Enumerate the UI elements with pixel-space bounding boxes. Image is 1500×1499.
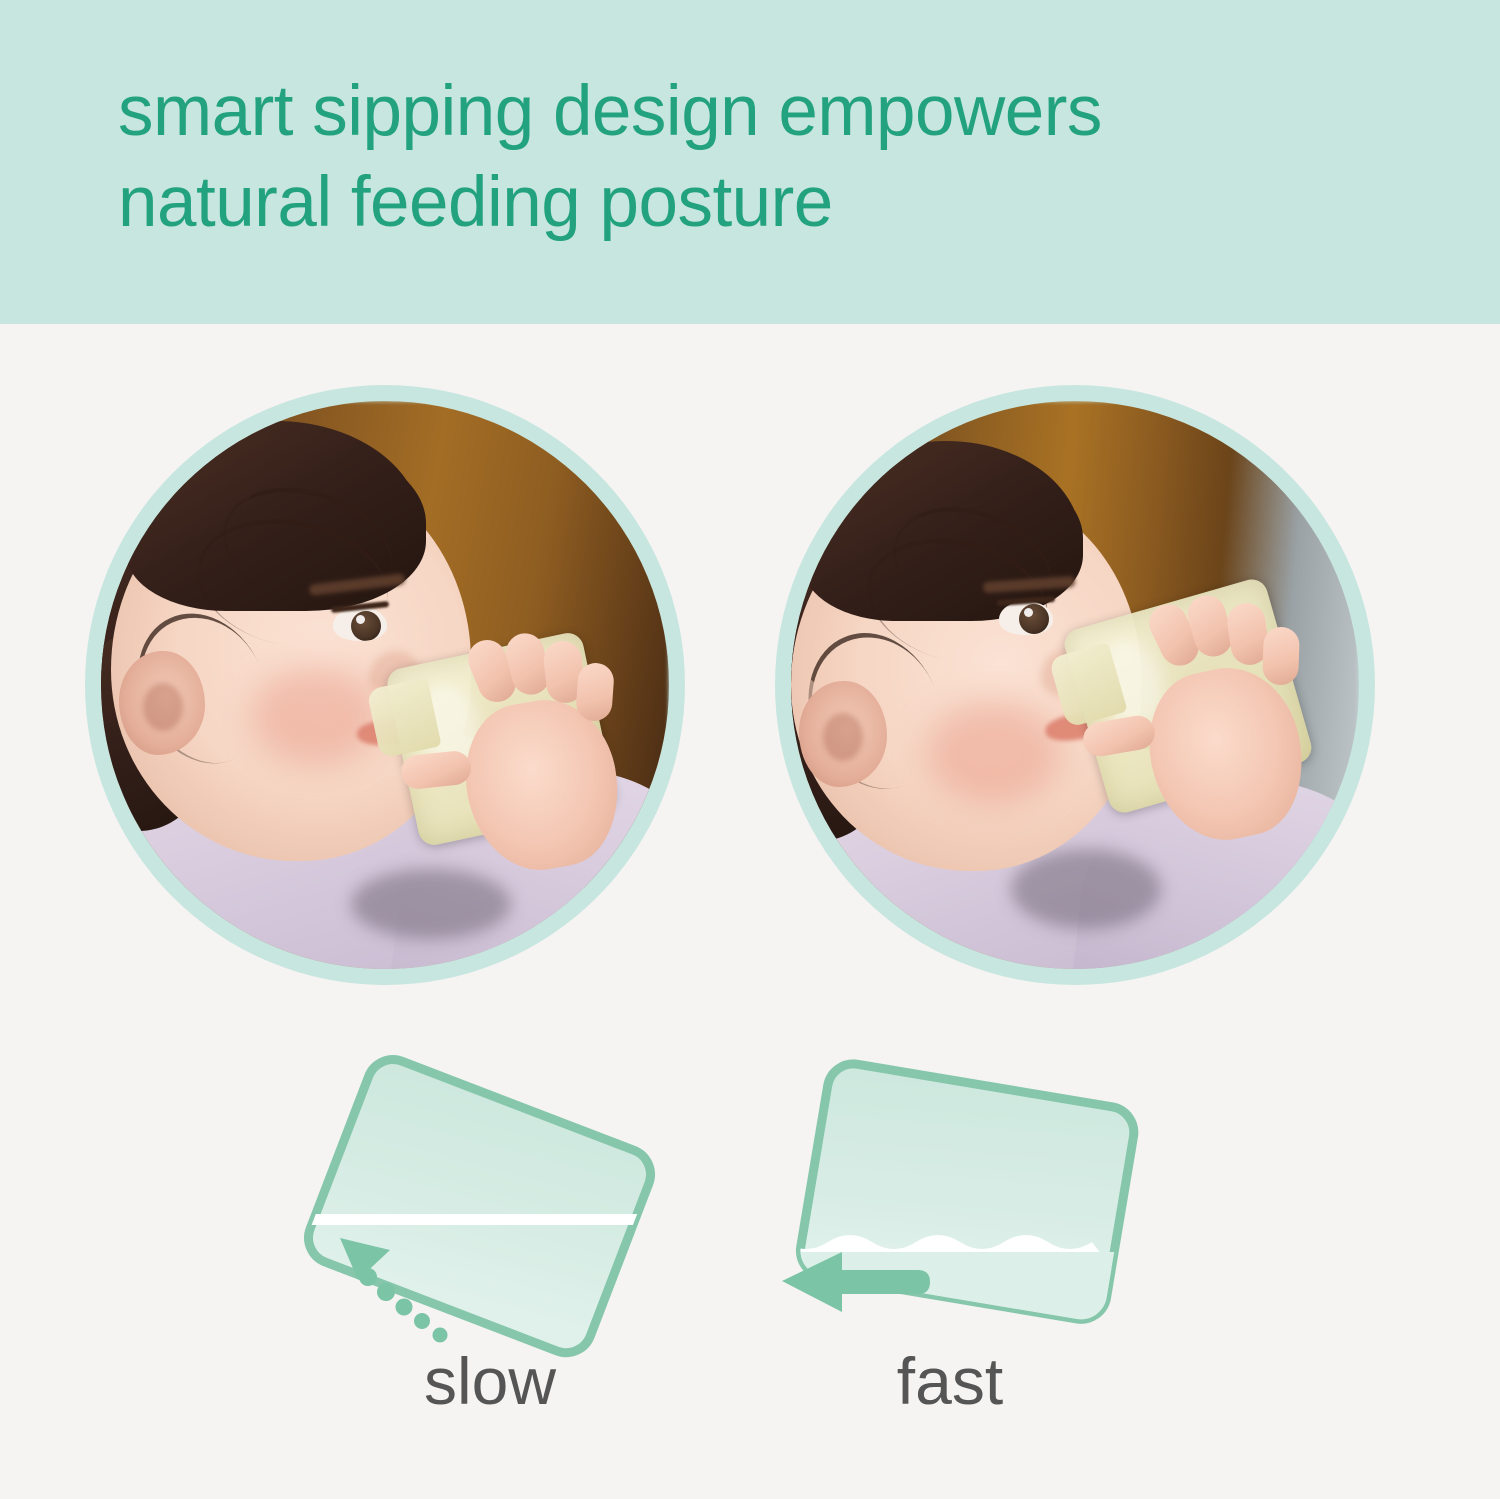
- fast-label: fast: [760, 1348, 1140, 1414]
- ear-inner: [143, 683, 183, 731]
- header-band: smart sipping design empowers natural fe…: [0, 0, 1500, 324]
- finger: [1262, 626, 1300, 685]
- fleece-shadow: [1011, 849, 1161, 929]
- finger: [575, 662, 615, 722]
- fleece-shadow: [351, 869, 511, 939]
- photo-right-image: [791, 401, 1359, 969]
- photo-right-circle: [775, 385, 1375, 985]
- eye-highlight: [356, 615, 365, 624]
- page-title: smart sipping design empowers natural fe…: [118, 66, 1418, 248]
- photo-left-image: [101, 401, 669, 969]
- cheek-blush: [251, 666, 381, 766]
- eye: [333, 607, 387, 641]
- iris: [351, 611, 381, 641]
- eye: [999, 601, 1053, 635]
- ear-inner: [823, 713, 863, 761]
- slow-bottle-body: [301, 1052, 658, 1360]
- fast-bottle-svg: [760, 1030, 1180, 1360]
- cheek-blush: [926, 701, 1061, 806]
- iris: [1019, 604, 1049, 634]
- photo-left-circle: [85, 385, 685, 985]
- slow-label: slow: [300, 1348, 680, 1414]
- slow-bottle-svg: [300, 1030, 720, 1360]
- eye-highlight: [1024, 608, 1033, 617]
- slow-liquid: [300, 1214, 720, 1225]
